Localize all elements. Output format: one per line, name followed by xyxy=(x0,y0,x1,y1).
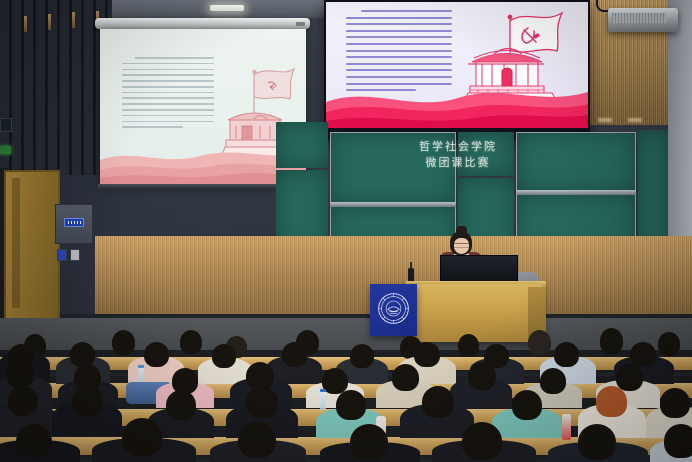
audience-head xyxy=(166,390,196,420)
slide-text-line xyxy=(346,69,452,71)
audience-head xyxy=(70,342,95,367)
audience-head xyxy=(462,422,502,460)
slide-text-line xyxy=(122,115,214,117)
slide-text-line xyxy=(122,126,183,128)
led-display xyxy=(326,2,588,130)
slide-text-line xyxy=(135,57,214,59)
lectern xyxy=(410,284,542,342)
audience-head xyxy=(16,424,52,458)
lecture-hall-scene: 哲学社会学院 微团课比赛 xyxy=(0,0,692,462)
ceiling-light xyxy=(210,5,244,11)
chalk-tray xyxy=(330,202,456,207)
slide-text-line xyxy=(346,50,452,52)
audience-head xyxy=(180,330,202,354)
chalkboard-text-line2: 微团课比赛 xyxy=(400,154,516,170)
chalkboard-frame xyxy=(516,132,636,192)
slide-text-line xyxy=(346,23,452,25)
audience-head xyxy=(600,328,623,354)
slide-text-line xyxy=(346,36,452,38)
audience-head xyxy=(540,368,566,394)
light-switch[interactable] xyxy=(57,249,67,261)
slide-text-line xyxy=(122,74,214,76)
chalkboard-panel-left-top xyxy=(276,122,328,168)
audience-head xyxy=(554,342,579,367)
slide-text-line xyxy=(122,92,214,94)
slide-text-line xyxy=(122,97,214,99)
audience-head xyxy=(664,424,692,458)
audience-head xyxy=(212,344,236,368)
audience-head xyxy=(512,390,542,420)
audience-head xyxy=(350,344,374,368)
projected-slide-text xyxy=(122,57,214,132)
slide-text-block xyxy=(346,10,452,96)
audience-head xyxy=(458,334,479,357)
slat-highlight xyxy=(24,16,27,32)
audience-head xyxy=(282,342,307,367)
audience-head xyxy=(528,330,551,355)
slat-highlight xyxy=(72,12,75,28)
slide-text-line xyxy=(122,103,214,105)
audience-head xyxy=(578,424,616,460)
glasses-icon xyxy=(454,243,469,248)
water-bottle xyxy=(320,392,326,410)
slide-text-line xyxy=(346,76,452,78)
audience-head xyxy=(392,364,419,391)
chalkboard-text-line1: 哲学社会学院 xyxy=(400,138,516,154)
audience-head xyxy=(630,342,656,367)
audience-head xyxy=(414,342,440,367)
audience-head-with-hat xyxy=(596,386,627,417)
bottle-cap xyxy=(138,365,144,368)
water-bottle xyxy=(562,414,571,440)
slide-text-line xyxy=(346,63,452,65)
slat-highlight xyxy=(48,14,51,30)
chalk-tray xyxy=(516,190,636,195)
projector-vent xyxy=(612,13,666,23)
slide-text-line xyxy=(122,80,214,82)
chalkboard-panel-far-right xyxy=(638,130,668,252)
slide-text-line xyxy=(346,17,452,19)
audience-head xyxy=(112,330,135,355)
audience-head xyxy=(72,384,103,416)
slide-text-line xyxy=(346,30,452,32)
slide-text-line xyxy=(122,63,214,65)
wall-uplight xyxy=(598,118,612,122)
wall-uplight xyxy=(628,118,642,122)
audience-head xyxy=(246,386,278,418)
audience-head xyxy=(144,342,169,367)
audience-head xyxy=(122,418,162,456)
audience-head xyxy=(422,386,454,418)
audience-head xyxy=(350,424,388,460)
audience-head xyxy=(6,360,34,388)
audience-head xyxy=(660,388,690,418)
slide-text-line xyxy=(122,121,214,123)
slide-text-line xyxy=(346,56,452,58)
audience-head xyxy=(336,390,366,420)
slide-text-line xyxy=(122,86,214,88)
door-handle-inset[interactable] xyxy=(12,178,20,308)
audience-head xyxy=(8,386,38,416)
exit-sign xyxy=(64,218,84,227)
desk-row-front-edge xyxy=(0,350,692,357)
audience-head xyxy=(468,362,496,390)
audience-head xyxy=(658,332,680,356)
slide-wave-graphic xyxy=(326,84,588,130)
screen-housing-endcap xyxy=(296,22,305,26)
projection-screen-housing[interactable] xyxy=(95,18,310,29)
slide-text-line xyxy=(346,43,452,45)
bottle-cap xyxy=(320,389,326,392)
slide-text-line xyxy=(122,109,214,111)
audience-head xyxy=(616,364,643,391)
emergency-exit-light xyxy=(0,146,11,154)
slide-text-line xyxy=(122,69,214,71)
slide-text-line xyxy=(361,10,452,12)
light-switch[interactable] xyxy=(70,249,80,261)
audience-head xyxy=(238,422,276,458)
university-seal-emblem-icon xyxy=(377,292,410,325)
wall-speaker-box xyxy=(0,118,12,132)
